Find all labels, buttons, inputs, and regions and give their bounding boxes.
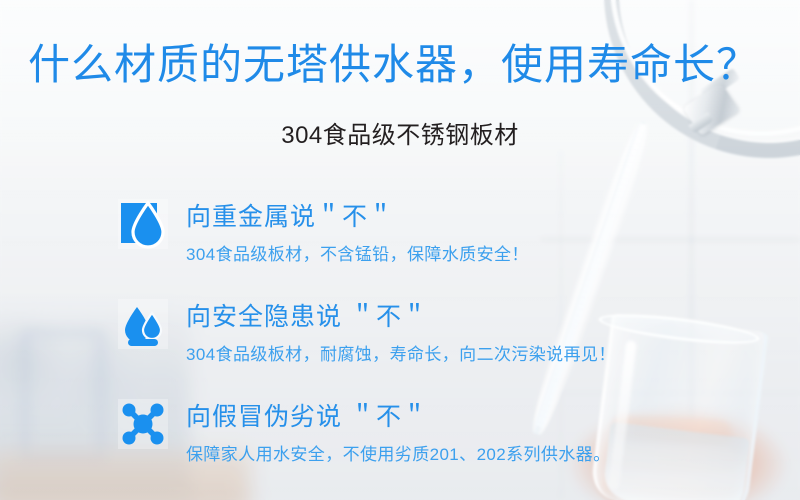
feature-item: 向安全隐患说 ＂不＂ 304食品级板材，耐腐蚀，寿命长，向二次污染说再见！ — [118, 299, 758, 399]
feature-description: 保障家人用水安全，不使用劣质201、202系列供水器。 — [186, 440, 611, 465]
feature-list: 向重金属说＂不＂ 304食品级板材，不含锰铅，保障水质安全！ 向安全隐患说 ＂不… — [118, 199, 758, 499]
feature-item: 向假冒伪劣说 ＂不＂ 保障家人用水安全，不使用劣质201、202系列供水器。 — [118, 399, 758, 499]
molecule-network-icon — [118, 399, 168, 449]
feature-text: 向安全隐患说 ＂不＂ 304食品级板材，耐腐蚀，寿命长，向二次污染说再见！ — [186, 297, 616, 365]
feature-title: 向假冒伪劣说 ＂不＂ — [186, 397, 611, 433]
double-water-drop-icon — [118, 299, 168, 349]
feature-description: 304食品级板材，不含锰铅，保障水质安全！ — [186, 240, 529, 265]
feature-title: 向安全隐患说 ＂不＂ — [186, 297, 616, 333]
feature-text: 向重金属说＂不＂ 304食品级板材，不含锰铅，保障水质安全！ — [186, 197, 529, 265]
feature-text: 向假冒伪劣说 ＂不＂ 保障家人用水安全，不使用劣质201、202系列供水器。 — [186, 397, 611, 465]
headline: 什么材质的无塔供水器，使用寿命长？ — [28, 43, 759, 88]
blurred-cabinet-panel — [22, 330, 104, 462]
subheadline: 304食品级不锈钢板材 — [0, 115, 800, 150]
product-banner: 什么材质的无塔供水器，使用寿命长？ 304食品级不锈钢板材 向重金属说＂不＂ 3… — [0, 0, 800, 500]
feature-item: 向重金属说＂不＂ 304食品级板材，不含锰铅，保障水质安全！ — [118, 199, 758, 299]
feature-description: 304食品级板材，耐腐蚀，寿命长，向二次污染说再见！ — [186, 340, 616, 365]
feature-title: 向重金属说＂不＂ — [186, 197, 529, 233]
water-drop-square-icon — [118, 199, 168, 249]
